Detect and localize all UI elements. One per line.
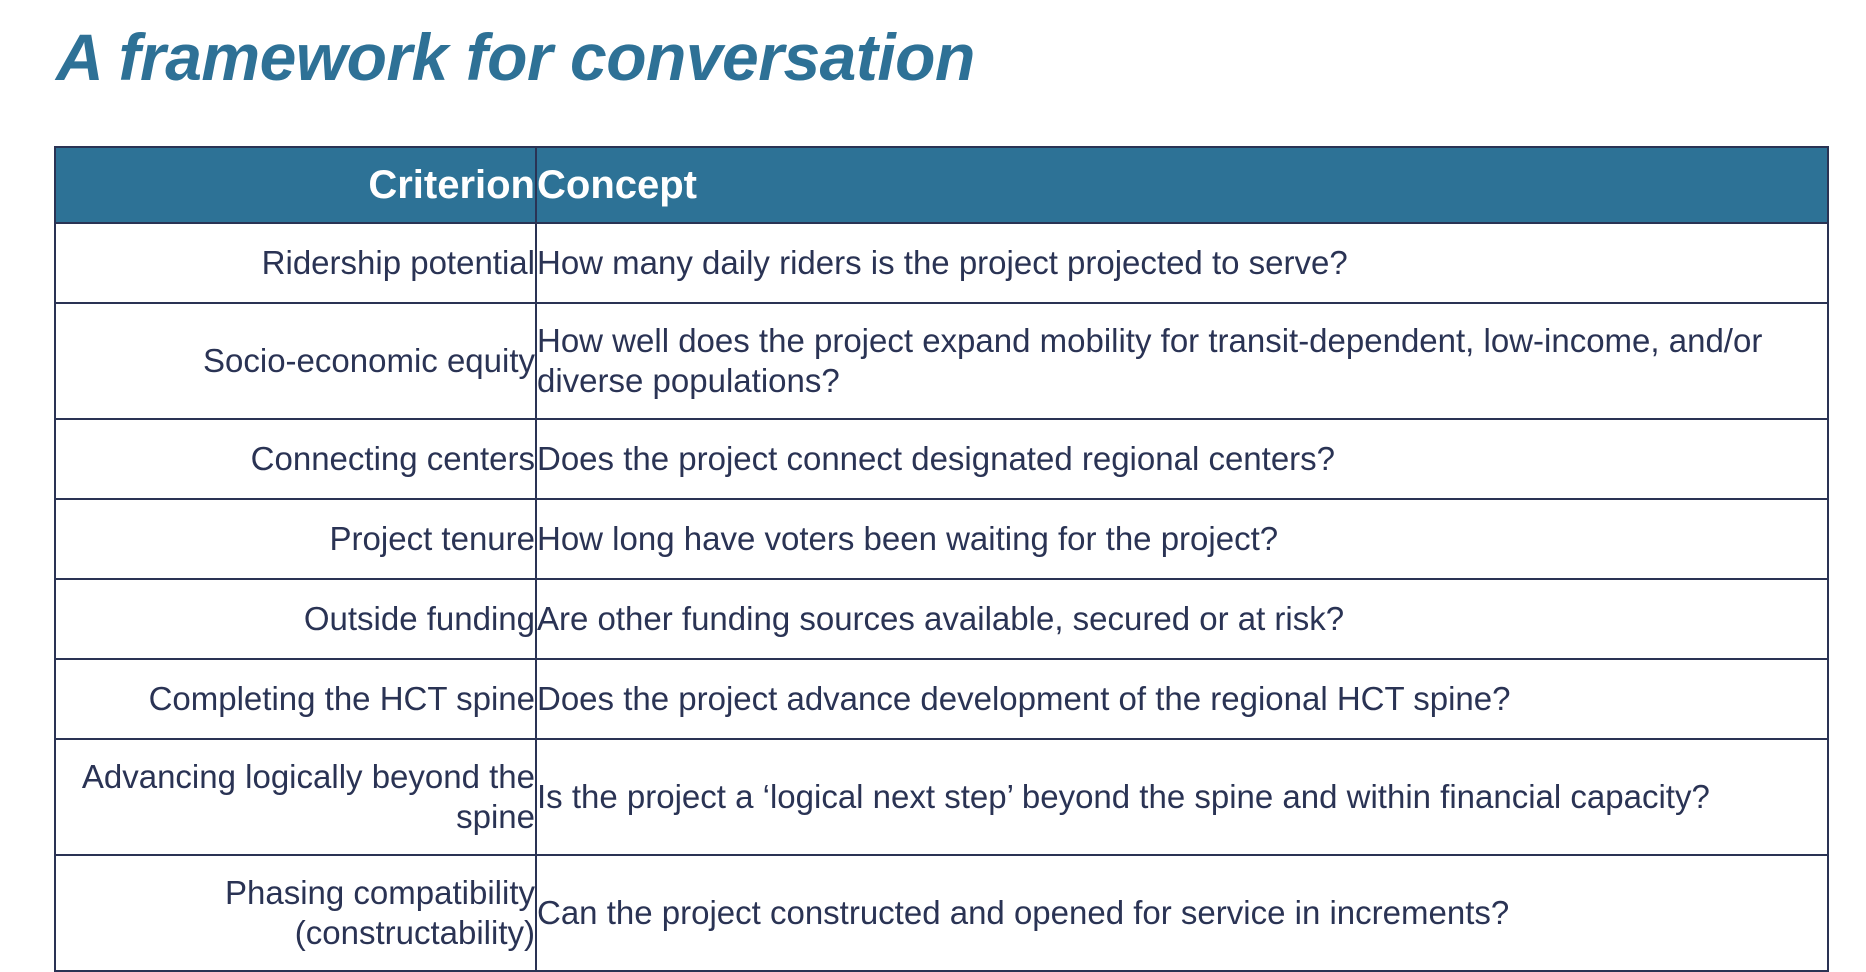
cell-concept: How many daily riders is the project pro… <box>536 223 1828 303</box>
framework-criteria-table: Criterion Concept Ridership potential Ho… <box>54 146 1829 972</box>
table-row: Socio-economic equity How well does the … <box>55 303 1828 419</box>
cell-criterion: Advancing logically beyond the spine <box>55 739 536 855</box>
table-header-row: Criterion Concept <box>55 147 1828 223</box>
cell-concept: Can the project constructed and opened f… <box>536 855 1828 971</box>
table-row: Phasing compatibility (constructability)… <box>55 855 1828 971</box>
column-header-criterion: Criterion <box>55 147 536 223</box>
cell-concept: How well does the project expand mobilit… <box>536 303 1828 419</box>
table-row: Ridership potential How many daily rider… <box>55 223 1828 303</box>
column-header-concept: Concept <box>536 147 1828 223</box>
cell-concept: How long have voters been waiting for th… <box>536 499 1828 579</box>
cell-criterion: Phasing compatibility (constructability) <box>55 855 536 971</box>
table-row: Outside funding Are other funding source… <box>55 579 1828 659</box>
table-row: Completing the HCT spine Does the projec… <box>55 659 1828 739</box>
cell-criterion: Outside funding <box>55 579 536 659</box>
cell-criterion: Socio-economic equity <box>55 303 536 419</box>
cell-concept: Does the project connect designated regi… <box>536 419 1828 499</box>
cell-concept: Is the project a ‘logical next step’ bey… <box>536 739 1828 855</box>
page-title: A framework for conversation <box>56 22 975 93</box>
table-body: Ridership potential How many daily rider… <box>55 223 1828 971</box>
cell-concept: Does the project advance development of … <box>536 659 1828 739</box>
cell-criterion: Connecting centers <box>55 419 536 499</box>
slide-canvas: A framework for conversation Criterion C… <box>0 0 1866 944</box>
cell-criterion: Completing the HCT spine <box>55 659 536 739</box>
cell-concept: Are other funding sources available, sec… <box>536 579 1828 659</box>
table-row: Advancing logically beyond the spine Is … <box>55 739 1828 855</box>
table-header: Criterion Concept <box>55 147 1828 223</box>
cell-criterion: Project tenure <box>55 499 536 579</box>
cell-criterion: Ridership potential <box>55 223 536 303</box>
table-row: Connecting centers Does the project conn… <box>55 419 1828 499</box>
table-row: Project tenure How long have voters been… <box>55 499 1828 579</box>
